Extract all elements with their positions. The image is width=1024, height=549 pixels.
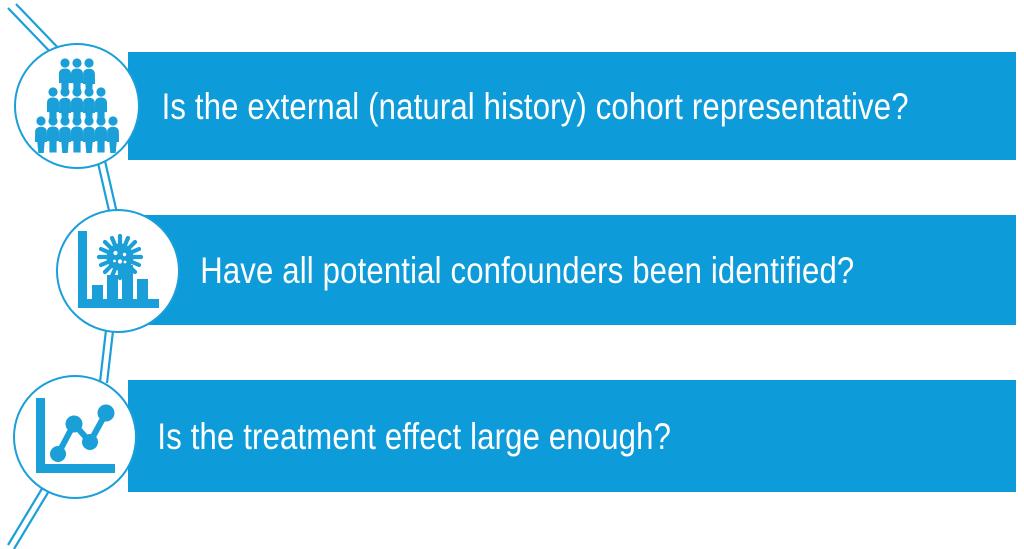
question-bar-2: Have all potential confounders been iden… bbox=[128, 215, 1016, 325]
question-text-3: Is the treatment effect large enough? bbox=[128, 418, 671, 455]
question-text-2: Have all potential confounders been iden… bbox=[128, 252, 854, 289]
question-bar-3: Is the treatment effect large enough? bbox=[128, 380, 1016, 492]
icon-circle-2 bbox=[56, 209, 180, 333]
line-chart-icon bbox=[32, 396, 118, 478]
bar-chart-virus-icon bbox=[74, 229, 162, 313]
question-bar-1: Is the external (natural history) cohort… bbox=[128, 52, 1016, 160]
connector-bottom-left bbox=[8, 482, 52, 549]
connector-two-three bbox=[100, 330, 113, 383]
icon-circle-1 bbox=[14, 43, 140, 169]
connector-one-two bbox=[98, 161, 117, 215]
question-text-1: Is the external (natural history) cohort… bbox=[128, 88, 909, 125]
infographic-root: Is the external (natural history) cohort… bbox=[0, 0, 1024, 549]
people-group-icon bbox=[27, 58, 127, 154]
icon-circle-3 bbox=[13, 375, 137, 499]
